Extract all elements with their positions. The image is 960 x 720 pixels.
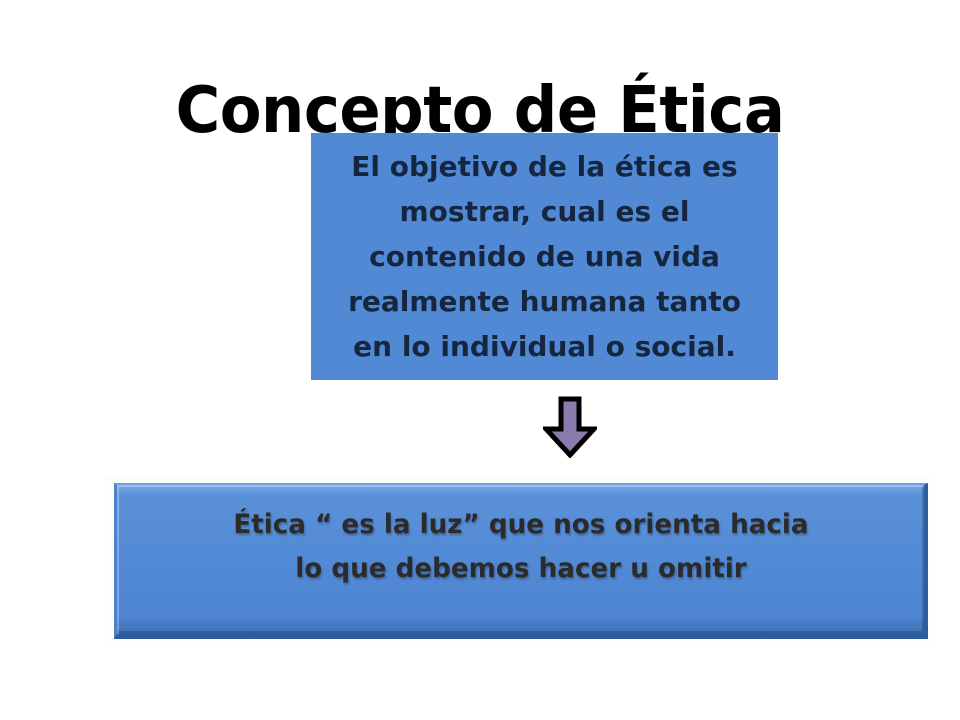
definition-callout-box: El objetivo de la ética es mostrar, cual…: [311, 133, 778, 380]
definition-text: El objetivo de la ética es mostrar, cual…: [329, 144, 761, 369]
slide-canvas: Concepto de Ética El objetivo de la étic…: [0, 0, 960, 720]
conclusion-text: Ética “ es la luz” que nos orienta hacia…: [152, 503, 889, 591]
arrow-down-icon: [543, 396, 597, 458]
conclusion-callout-frame: Ética “ es la luz” que nos orienta hacia…: [104, 476, 934, 646]
conclusion-callout-box: Ética “ es la luz” que nos orienta hacia…: [114, 483, 928, 639]
